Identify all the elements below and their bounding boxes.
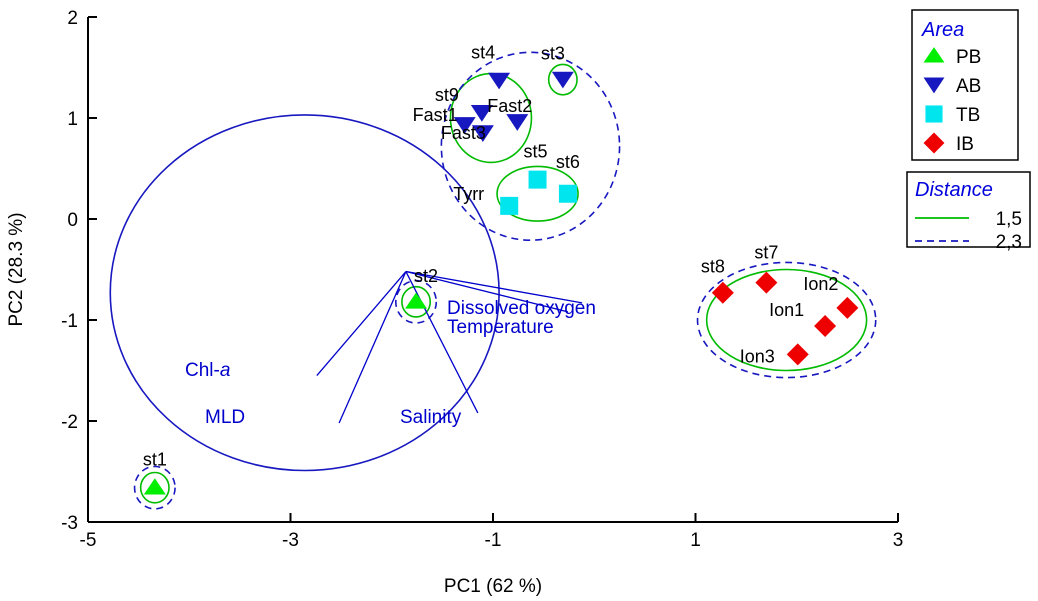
data-point-label-st4: st4: [471, 43, 495, 63]
vector-line-mld: [339, 272, 406, 424]
area-legend-label-ab: AB: [956, 76, 981, 97]
y-tick-label: 1: [67, 109, 78, 130]
plot-canvas: -5-3-113210-1-2-3PC1 (62 %)PC2 (28.3 %)D…: [0, 0, 1038, 601]
data-point-label-st1: st1: [143, 450, 167, 470]
data-point-ion1: [814, 315, 836, 337]
data-point-label-st7: st7: [754, 243, 778, 263]
x-tick-label: -5: [80, 530, 97, 551]
data-point-st8: [712, 282, 734, 304]
vector-line-salinity: [406, 272, 478, 413]
y-tick-label: 0: [67, 210, 78, 231]
data-point-st2: [405, 292, 427, 308]
series-AB: st4st9Fast1Fast3Fast2st3: [413, 43, 574, 144]
data-points-group: st2st1st4st9Fast1Fast3Fast2st3st5st6Tyrr…: [143, 43, 859, 495]
data-point-st3: [552, 72, 574, 89]
data-point-ion3: [787, 343, 809, 365]
data-point-label-ion3: Ion3: [740, 346, 775, 366]
data-point-label-ion2: Ion2: [803, 274, 838, 294]
y-tick-label: 2: [67, 8, 78, 29]
distance-legend-label-2-3: 2,3: [996, 232, 1022, 253]
data-point-ion2: [836, 297, 858, 319]
data-point-st4: [488, 73, 510, 90]
data-point-st7: [755, 272, 777, 294]
x-tick-label: 3: [893, 530, 904, 551]
data-point-label-fast3: Fast3: [441, 123, 486, 143]
series-IB: st8st7Ion2Ion1Ion3: [701, 243, 859, 367]
x-axis-title: PC1 (62 %): [444, 576, 542, 597]
area-legend-label-tb: TB: [956, 105, 980, 126]
data-point-label-st8: st8: [701, 257, 725, 277]
vector-label-mld: MLD: [205, 407, 245, 428]
area-legend-title: Area: [921, 19, 964, 41]
data-point-label-fast2: Fast2: [487, 96, 532, 116]
legends-group: AreaPBABTBIBDistance1,52,3: [907, 10, 1030, 253]
distance-legend-title: Distance: [915, 179, 993, 201]
data-point-label-st3: st3: [541, 44, 565, 64]
loading-vectors-group: Dissolved oxygenTemperatureChl-aMLDSalin…: [185, 272, 596, 428]
pca-biplot-figure: -5-3-113210-1-2-3PC1 (62 %)PC2 (28.3 %)D…: [0, 0, 1038, 601]
data-point-label-tyrr: Tyrr: [453, 184, 484, 204]
data-point-label-st9: st9: [435, 85, 459, 105]
vector-label-chl-a: Chl-a: [185, 360, 230, 381]
vector-label-salinity: Salinity: [400, 407, 462, 428]
data-point-label-st6: st6: [556, 152, 580, 172]
vector-line-chl-a: [317, 272, 406, 376]
vector-label-temperature: Temperature: [447, 317, 554, 338]
area-legend-label-ib: IB: [956, 134, 974, 155]
area-legend-label-pb: PB: [956, 47, 981, 68]
y-tick-label: -3: [61, 513, 78, 534]
y-tick-label: -1: [61, 311, 78, 332]
distance-legend-label-1-5: 1,5: [996, 209, 1022, 230]
data-point-st5: [529, 171, 547, 189]
data-point-label-ion1: Ion1: [769, 300, 804, 320]
x-tick-label: -1: [485, 530, 502, 551]
data-point-st1: [144, 478, 166, 494]
data-point-label-fast1: Fast1: [413, 105, 458, 125]
data-point-label-st5: st5: [524, 142, 548, 162]
area-legend-marker-tb: [925, 105, 942, 122]
vector-label-dissolved-oxygen: Dissolved oxygen: [447, 298, 596, 319]
y-axis-title: PC2 (28.3 %): [6, 212, 27, 326]
data-point-tyrr: [500, 197, 518, 215]
y-tick-label: -2: [61, 412, 78, 433]
x-tick-label: 1: [690, 530, 701, 551]
data-point-fast2: [506, 114, 528, 131]
data-point-st6: [559, 185, 577, 203]
data-point-label-st2: st2: [414, 266, 438, 286]
x-tick-label: -3: [282, 530, 299, 551]
